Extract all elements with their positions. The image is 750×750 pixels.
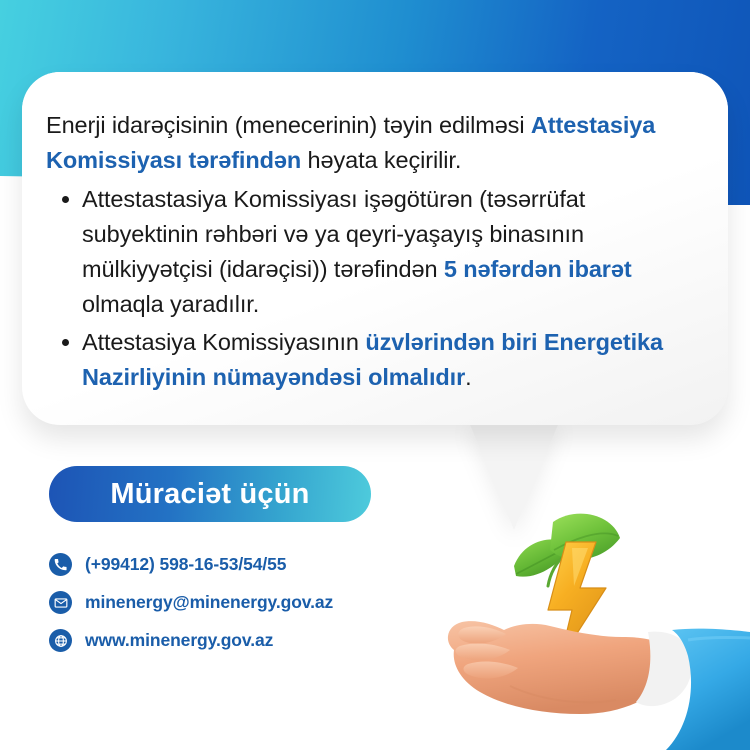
contact-row-website[interactable]: www.minenergy.gov.az xyxy=(49,624,449,657)
contact-row-phone[interactable]: (+99412) 598-16-53/54/55 xyxy=(49,548,449,581)
cta-button-label: Müraciət üçün xyxy=(110,478,309,511)
lead-paragraph: Enerji idarəçisinin (menecerinin) təyin … xyxy=(46,108,706,178)
lead-text-part1: Enerji idarəçisinin (menecerinin) təyin … xyxy=(46,112,531,138)
muraciet-ucun-button[interactable]: Müraciət üçün xyxy=(49,466,371,522)
bullet-1-highlight: 5 nəfərdən ibarət xyxy=(444,256,632,282)
bullet-2-part1: Attestasiya Komissiyasının xyxy=(82,329,365,355)
bullet-1-part2: olmaqla yaradılır. xyxy=(82,291,259,317)
envelope-icon xyxy=(49,591,72,614)
globe-icon xyxy=(49,629,72,652)
contact-phone-value: (+99412) 598-16-53/54/55 xyxy=(85,554,286,575)
contact-row-email[interactable]: minenergy@minenergy.gov.az xyxy=(49,586,449,619)
list-item: Attestastasiya Komissiyası işəgötürən (t… xyxy=(82,182,706,322)
bullet-2-part2: . xyxy=(465,364,471,390)
list-item: Attestasiya Komissiyasının üzvlərindən b… xyxy=(82,325,706,395)
poster-canvas: Enerji idarəçisinin (menecerinin) təyin … xyxy=(0,0,750,750)
contact-list: (+99412) 598-16-53/54/55 minenergy@minen… xyxy=(49,548,449,662)
contact-website-value: www.minenergy.gov.az xyxy=(85,630,273,651)
blue-sleeve xyxy=(636,629,750,750)
bullet-list: Attestastasiya Komissiyası işəgötürən (t… xyxy=(46,182,706,395)
phone-icon xyxy=(49,553,72,576)
contact-email-value: minenergy@minenergy.gov.az xyxy=(85,592,333,613)
hand-holding-energy-plant-illustration xyxy=(420,500,750,750)
bubble-text-block: Enerji idarəçisinin (menecerinin) təyin … xyxy=(46,108,706,398)
lead-text-part2: həyata keçirilir. xyxy=(301,147,461,173)
